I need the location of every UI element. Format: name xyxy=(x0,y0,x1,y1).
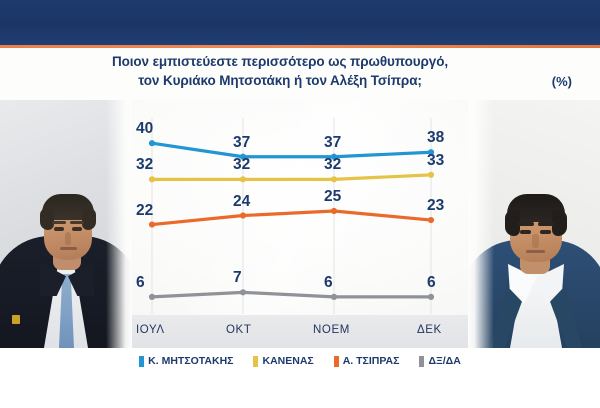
mitsotakis-eyebrow-left xyxy=(52,221,66,224)
legend-swatch-icon-3 xyxy=(419,356,424,367)
data-point-1-1 xyxy=(240,176,246,182)
mitsotakis-eyebrow-right xyxy=(70,221,84,224)
value-label-2-0: 22 xyxy=(136,203,153,219)
legend-label-0: Κ. ΜΗΤΣΟΤΑΚΗΣ xyxy=(148,355,233,367)
portrait-tsipras xyxy=(468,100,600,348)
data-point-1-3 xyxy=(428,172,434,178)
legend-label-1: ΚΑΝΕΝΑΣ xyxy=(262,355,313,367)
value-label-1-3: 33 xyxy=(427,153,444,169)
series-line-1 xyxy=(152,175,431,180)
legend-item-1[interactable]: ΚΑΝΕΝΑΣ xyxy=(253,355,313,367)
value-label-2-2: 25 xyxy=(324,189,341,205)
value-label-3-1: 7 xyxy=(233,270,242,286)
title-line-1: Ποιον εμπιστεύεστε περισσότερο ως πρωθυπ… xyxy=(60,52,500,71)
tsipras-hair-side-right xyxy=(552,210,567,236)
portrait-mitsotakis xyxy=(0,100,132,348)
title-line-2: τον Κυριάκο Μητσοτάκη ή τον Αλέξη Τσίπρα… xyxy=(60,71,500,90)
percent-unit-label: (%) xyxy=(552,74,572,89)
legend-label-2: Α. ΤΣΙΠΡΑΣ xyxy=(343,355,400,367)
chart-series-lines xyxy=(152,143,431,297)
tsipras-eye-left xyxy=(520,230,531,234)
value-label-1-0: 32 xyxy=(136,157,153,173)
x-axis-label-ΙΟΥΛ: ΙΟΥΛ xyxy=(136,324,165,336)
mitsotakis-mouth xyxy=(60,247,77,250)
value-label-3-0: 6 xyxy=(136,275,145,291)
legend-item-3[interactable]: ΔΞ/ΔΑ xyxy=(419,355,460,367)
legend-swatch-icon-0 xyxy=(139,356,144,367)
legend-label-3: ΔΞ/ΔΑ xyxy=(428,355,460,367)
header-accent-rule xyxy=(0,45,600,48)
value-label-0-1: 37 xyxy=(233,135,250,151)
bottom-filler xyxy=(0,374,600,408)
series-line-0 xyxy=(152,143,431,157)
data-point-1-2 xyxy=(331,176,337,182)
poll-chart-screenshot: OPEN ΕΡΕΥΝΑ OPEN BEYOND alco The data it… xyxy=(0,0,600,408)
mitsotakis-eye-right xyxy=(72,227,82,231)
value-label-0-3: 38 xyxy=(427,130,444,146)
tsipras-nose xyxy=(532,234,539,248)
mitsotakis-nose xyxy=(65,232,71,245)
data-point-3-1 xyxy=(240,289,246,295)
portrait-right-fade-edge xyxy=(468,100,494,348)
legend-swatch-icon-2 xyxy=(334,356,339,367)
x-axis-label-ΔΕΚ: ΔΕΚ xyxy=(417,324,442,336)
header-bar xyxy=(0,0,600,46)
x-axis-label-ΝΟΕΜ: ΝΟΕΜ xyxy=(313,324,350,336)
mitsotakis-lapel-pin xyxy=(12,315,20,324)
legend-item-0[interactable]: Κ. ΜΗΤΣΟΤΑΚΗΣ xyxy=(139,355,233,367)
value-label-0-0: 40 xyxy=(136,121,153,137)
data-point-2-3 xyxy=(428,217,434,223)
value-label-0-2: 37 xyxy=(324,135,341,151)
tsipras-eyebrow-left xyxy=(518,222,534,226)
legend-item-2[interactable]: Α. ΤΣΙΠΡΑΣ xyxy=(334,355,400,367)
data-point-3-3 xyxy=(428,294,434,300)
data-point-3-0 xyxy=(149,294,155,300)
value-label-1-1: 32 xyxy=(233,157,250,173)
data-point-0-0 xyxy=(149,140,155,146)
tsipras-mouth xyxy=(526,250,545,253)
title-band: Ποιον εμπιστεύεστε περισσότερο ως πρωθυπ… xyxy=(0,48,600,100)
value-label-1-2: 32 xyxy=(324,157,341,173)
mitsotakis-hair-side-right xyxy=(82,208,96,230)
value-label-3-3: 6 xyxy=(427,275,436,291)
page-title: Ποιον εμπιστεύεστε περισσότερο ως πρωθυπ… xyxy=(60,52,500,90)
x-axis-label-ΟΚΤ: ΟΚΤ xyxy=(226,324,251,336)
data-point-2-1 xyxy=(240,212,246,218)
data-point-2-0 xyxy=(149,221,155,227)
data-point-3-2 xyxy=(331,294,337,300)
series-line-3 xyxy=(152,292,431,297)
mitsotakis-eye-left xyxy=(54,227,64,231)
tsipras-eyebrow-right xyxy=(538,222,554,226)
tsipras-eye-right xyxy=(540,230,551,234)
value-label-2-3: 23 xyxy=(427,198,444,214)
data-point-1-0 xyxy=(149,176,155,182)
value-label-2-1: 24 xyxy=(233,194,250,210)
portrait-left-fade-edge xyxy=(106,100,132,348)
value-label-3-2: 6 xyxy=(324,275,333,291)
series-line-2 xyxy=(152,211,431,225)
data-point-2-2 xyxy=(331,208,337,214)
chart-legend: Κ. ΜΗΤΣΟΤΑΚΗΣΚΑΝΕΝΑΣΑ. ΤΣΙΠΡΑΣΔΞ/ΔΑ xyxy=(0,348,600,374)
mitsotakis-hair-side-left xyxy=(40,208,54,230)
legend-swatch-icon-1 xyxy=(253,356,258,367)
